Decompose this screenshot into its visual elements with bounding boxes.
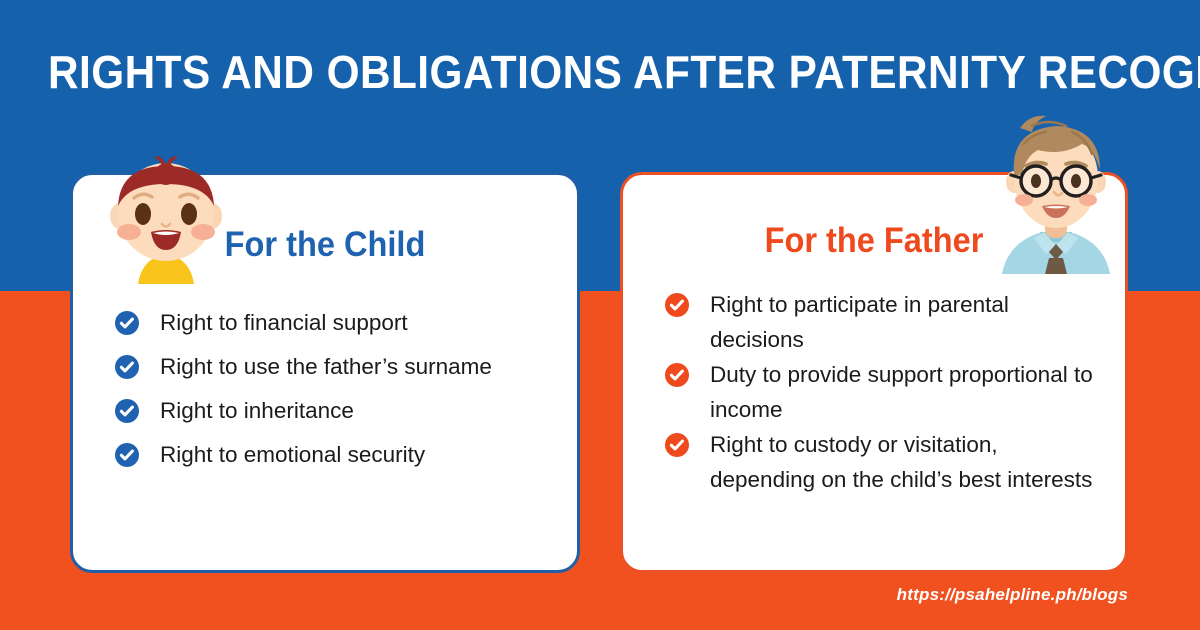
list-item-label: Right to financial support xyxy=(160,310,408,335)
list-item-label: Right to participate in parental decisio… xyxy=(710,292,1009,352)
check-circle-icon xyxy=(115,399,139,423)
list-item: Right to use the father’s surname xyxy=(115,349,551,384)
baby-avatar-illustration xyxy=(96,144,236,284)
bullet-list-child: Right to financial support Right to use … xyxy=(115,305,551,481)
list-item: Right to custody or visitation, dependin… xyxy=(665,427,1099,497)
bullet-list-father: Right to participate in parental decisio… xyxy=(665,287,1099,497)
list-item-label: Right to custody or visitation, dependin… xyxy=(710,432,1092,492)
source-url: https://psahelpline.ph/blogs xyxy=(897,585,1128,605)
list-item: Right to emotional security xyxy=(115,437,551,472)
check-circle-icon xyxy=(115,311,139,335)
father-avatar-illustration xyxy=(988,108,1124,274)
page-title: RIGHTS AND OBLIGATIONS AFTER PATERNITY R… xyxy=(48,44,1152,100)
list-item: Right to financial support xyxy=(115,305,551,340)
check-circle-icon xyxy=(115,443,139,467)
list-item: Right to participate in parental decisio… xyxy=(665,287,1099,357)
list-item: Duty to provide support proportional to … xyxy=(665,357,1099,427)
check-circle-icon xyxy=(665,363,689,387)
check-circle-icon xyxy=(665,433,689,457)
list-item-label: Right to inheritance xyxy=(160,398,354,423)
infographic-poster: RIGHTS AND OBLIGATIONS AFTER PATERNITY R… xyxy=(0,0,1200,630)
list-item-label: Duty to provide support proportional to … xyxy=(710,362,1093,422)
list-item-label: Right to emotional security xyxy=(160,442,425,467)
check-circle-icon xyxy=(115,355,139,379)
list-item: Right to inheritance xyxy=(115,393,551,428)
list-item-label: Right to use the father’s surname xyxy=(160,354,492,379)
check-circle-icon xyxy=(665,293,689,317)
